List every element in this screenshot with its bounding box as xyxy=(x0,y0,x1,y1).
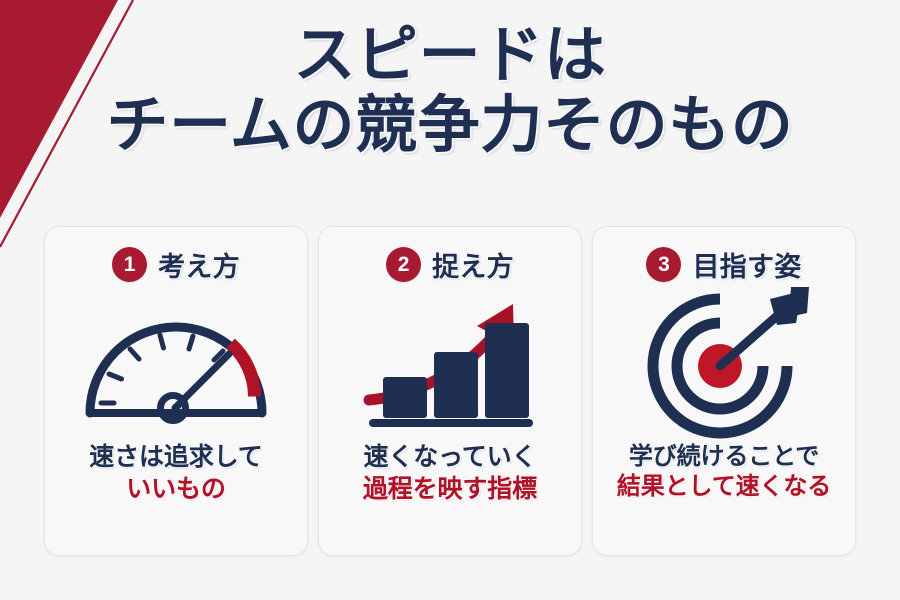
icon-area-1 xyxy=(53,288,299,438)
card-heading-1: 考え方 xyxy=(158,245,240,284)
infographic-canvas: スピードは チームの競争力そのもの 1 考え方 xyxy=(0,0,900,600)
card-header: 2 捉え方 xyxy=(386,244,514,284)
icon-area-2 xyxy=(327,288,573,438)
card-foot-top-1: 速さは追求して xyxy=(89,442,262,474)
page-title: スピードは チームの競争力そのもの xyxy=(0,22,900,160)
card-foot-bottom-3: 結果として速くなる xyxy=(617,472,831,502)
card-footer-2: 速くなっていく 過程を映す指標 xyxy=(363,442,537,505)
card-footer-1: 速さは追求して いいもの xyxy=(89,442,262,505)
card-foot-bottom-2: 過程を映す指標 xyxy=(363,474,537,506)
title-line-1: スピードは xyxy=(0,22,900,90)
card-kangaekata[interactable]: 1 考え方 xyxy=(44,226,308,556)
step-badge-1: 1 xyxy=(112,247,147,282)
step-badge-2: 2 xyxy=(386,247,421,282)
icon-area-3 xyxy=(601,288,847,438)
target-bullseye-arrow-icon xyxy=(639,287,809,439)
card-toraekata[interactable]: 2 捉え方 速くなっていく 過程を映す指標 xyxy=(318,226,582,556)
card-foot-bottom-1: いいもの xyxy=(89,474,262,506)
card-heading-2: 捉え方 xyxy=(432,245,514,284)
card-header: 1 考え方 xyxy=(112,244,240,284)
step-badge-3: 3 xyxy=(646,247,681,282)
card-heading-3: 目指す姿 xyxy=(692,245,801,284)
bar-chart-growth-arrow-icon xyxy=(361,288,539,438)
card-mezasu-sugata[interactable]: 3 目指す姿 xyxy=(592,226,856,556)
title-line-2: チームの競争力そのもの xyxy=(0,92,900,160)
card-foot-top-3: 学び続けることで xyxy=(617,442,831,472)
card-header: 3 目指す姿 xyxy=(646,244,801,284)
card-foot-top-2: 速くなっていく xyxy=(363,442,537,474)
speedometer-gauge-icon xyxy=(78,295,274,431)
card-row: 1 考え方 xyxy=(44,226,856,556)
card-footer-3: 学び続けることで 結果として速くなる xyxy=(617,442,831,502)
